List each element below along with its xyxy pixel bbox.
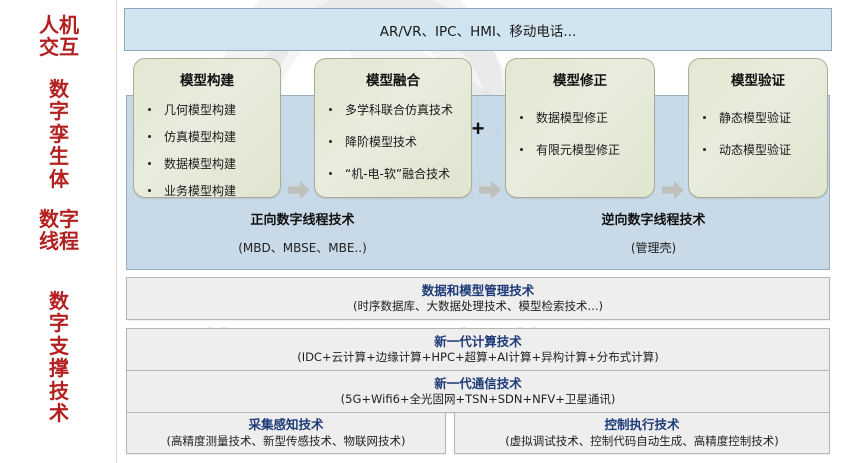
list-item: 仿真模型构建 xyxy=(134,128,280,145)
list-item: 业务模型构建 xyxy=(134,182,280,199)
card-model-validation-list: 静态模型验证 动态模型验证 xyxy=(689,109,827,158)
card-model-correction-title: 模型修正 xyxy=(506,69,654,89)
forward-thread-title: 正向数字线程技术 xyxy=(250,209,354,228)
card-model-validation[interactable]: 模型验证 静态模型验证 动态模型验证 xyxy=(688,58,828,198)
bar-sensing-acquisition-title: 采集感知技术 xyxy=(248,417,323,433)
card-model-correction-list: 数据模型修正 有限元模型修正 xyxy=(506,109,654,158)
forward-thread-sub: (MBD、MBSE、MBE..) xyxy=(238,239,367,256)
bar-sensing-acquisition-sub: (高精度测量技术、新型传感技术、物联网技术) xyxy=(167,434,406,449)
bar-next-gen-communication-sub: (5G+Wifi6+全光固网+TSN+SDN+NFV+卫星通讯) xyxy=(341,392,616,407)
list-item: 降阶模型技术 xyxy=(315,133,471,150)
rail-labels: 人机交互 数字孪生体 数字线程 数字支撑技术 xyxy=(0,0,118,463)
card-model-fusion-title: 模型融合 xyxy=(315,69,471,89)
reverse-thread-block: 逆向数字线程技术 (管理壳) xyxy=(478,195,829,269)
model-lifecycle-cards: 模型构建 几何模型构建 仿真模型构建 数据模型构建 业务模型构建 模型融合 多学… xyxy=(124,58,832,198)
list-item: 数据模型构建 xyxy=(134,155,280,172)
rail-item-human-machine-interaction: 人机交互 xyxy=(0,14,118,59)
list-item: 有限元模型修正 xyxy=(506,141,654,158)
bar-next-gen-communication[interactable]: 新一代通信技术 (5G+Wifi6+全光固网+TSN+SDN+NFV+卫星通讯) xyxy=(126,370,830,413)
bar-data-model-management-sub: (时序数据库、大数据处理技术、模型检索技术...) xyxy=(353,299,603,314)
arrow-right-icon-3 xyxy=(662,181,684,199)
bar-data-model-management[interactable]: 数据和模型管理技术 (时序数据库、大数据处理技术、模型检索技术...) xyxy=(126,277,830,320)
arrow-right-icon-1 xyxy=(288,181,310,199)
bar-next-gen-computing[interactable]: 新一代计算技术 (IDC+云计算+边缘计算+HPC+超算+AI计算+异构计算+分… xyxy=(126,328,830,371)
reverse-thread-title: 逆向数字线程技术 xyxy=(601,209,705,228)
bar-sensing-acquisition[interactable]: 采集感知技术 (高精度测量技术、新型传感技术、物联网技术) xyxy=(126,412,446,454)
bar-next-gen-computing-sub: (IDC+云计算+边缘计算+HPC+超算+AI计算+异构计算+分布式计算) xyxy=(297,350,659,365)
card-model-construction[interactable]: 模型构建 几何模型构建 仿真模型构建 数据模型构建 业务模型构建 xyxy=(133,58,281,198)
list-item: “机-电-软”融合技术 xyxy=(315,165,471,182)
rail-item-digital-support-technology: 数字支撑技术 xyxy=(0,290,118,424)
bar-control-execution-sub: (虚拟调试技术、控制代码自动生成、高精度控制技术) xyxy=(505,434,778,449)
list-item: 几何模型构建 xyxy=(134,101,280,118)
top-band-label: AR/VR、IPC、HMI、移动电话... xyxy=(380,20,576,40)
list-item: 多学科联合仿真技术 xyxy=(315,101,471,118)
reverse-thread-sub: (管理壳) xyxy=(631,239,676,256)
forward-thread-block: 正向数字线程技术 (MBD、MBSE、MBE..) xyxy=(127,195,478,269)
card-model-construction-title: 模型构建 xyxy=(134,69,280,89)
rail-item-digital-thread: 数字线程 xyxy=(0,208,118,253)
top-band: AR/VR、IPC、HMI、移动电话... xyxy=(124,8,832,51)
rail-divider xyxy=(116,0,117,463)
diagram-content: AR/VR、IPC、HMI、移动电话... + 正向数字线程技术 (MBD、MB… xyxy=(124,0,834,463)
bar-data-model-management-title: 数据和模型管理技术 xyxy=(422,283,535,299)
list-item: 静态模型验证 xyxy=(689,109,827,126)
card-model-construction-list: 几何模型构建 仿真模型构建 数据模型构建 业务模型构建 xyxy=(134,101,280,199)
list-item: 动态模型验证 xyxy=(689,141,827,158)
diagram-root: 工业互联网产业联盟 Alliance of Industrial Interne… xyxy=(0,0,841,463)
card-model-fusion-list: 多学科联合仿真技术 降阶模型技术 “机-电-软”融合技术 xyxy=(315,101,471,182)
bar-control-execution-title: 控制执行技术 xyxy=(604,417,679,433)
card-model-validation-title: 模型验证 xyxy=(689,69,827,89)
card-model-correction[interactable]: 模型修正 数据模型修正 有限元模型修正 xyxy=(505,58,655,198)
list-item: 数据模型修正 xyxy=(506,109,654,126)
card-model-fusion[interactable]: 模型融合 多学科联合仿真技术 降阶模型技术 “机-电-软”融合技术 xyxy=(314,58,472,198)
rail-item-digital-twin: 数字孪生体 xyxy=(0,78,118,190)
bar-next-gen-communication-title: 新一代通信技术 xyxy=(434,376,522,392)
bar-control-execution[interactable]: 控制执行技术 (虚拟调试技术、控制代码自动生成、高精度控制技术) xyxy=(454,412,830,454)
arrow-right-icon-2 xyxy=(479,181,501,199)
bar-next-gen-computing-title: 新一代计算技术 xyxy=(434,334,522,350)
